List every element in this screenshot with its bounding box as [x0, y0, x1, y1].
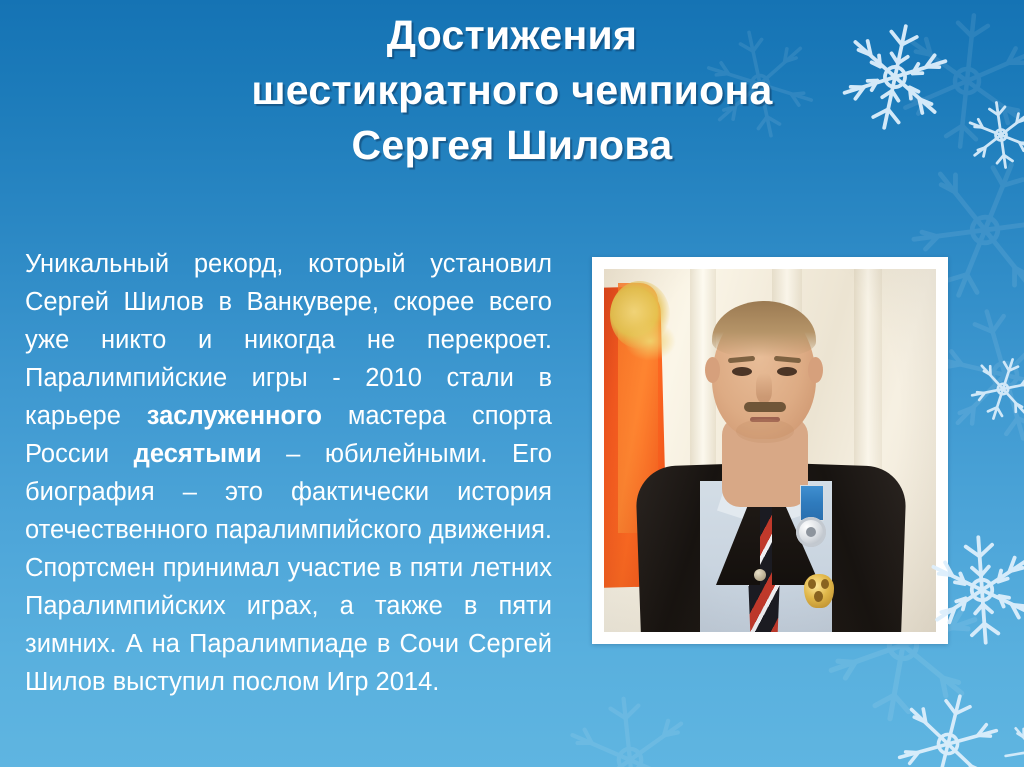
presentation-slide: Достижения шестикратного чемпиона Сергея…	[0, 0, 1024, 767]
title-line-3: Сергея Шилова	[0, 118, 1024, 173]
body-segment-emphasis-1: заслуженного	[147, 402, 322, 430]
watermark-snowflake-bottom-left	[553, 683, 707, 767]
slide-body-text: Уникальный рекорд, который установил Сер…	[25, 245, 552, 701]
portrait-photo-frame	[592, 257, 948, 644]
snowflake-bottom-right-lower	[880, 676, 1016, 767]
photo-vignette	[604, 269, 936, 632]
title-line-2: шестикратного чемпиона	[0, 63, 1024, 118]
portrait-photo	[604, 269, 936, 632]
body-segment-3: – юбилейными. Его биография – это фактич…	[25, 440, 552, 696]
snowflake-right-middle	[956, 342, 1024, 435]
snowflake-bottom-corner	[990, 706, 1024, 767]
title-line-1: Достижения	[0, 8, 1024, 63]
body-segment-emphasis-2: десятыми	[134, 440, 262, 468]
slide-title: Достижения шестикратного чемпиона Сергея…	[0, 8, 1024, 173]
